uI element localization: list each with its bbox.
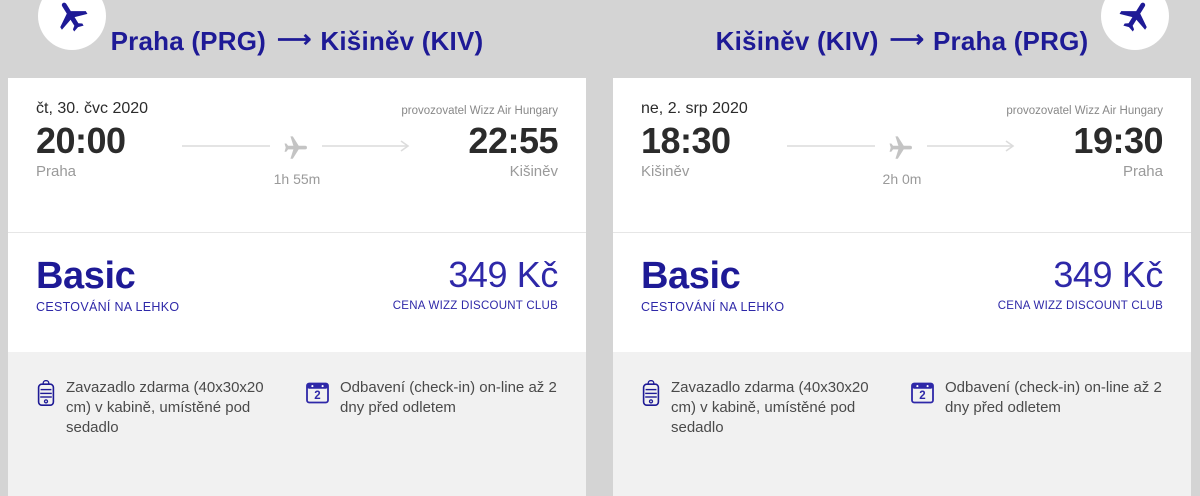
- fare-name: Basic: [641, 257, 784, 295]
- airplane-icon: [38, 0, 106, 50]
- svg-text:2: 2: [919, 390, 925, 402]
- calendar-2-icon: 2: [305, 378, 330, 405]
- route-destination: Kišiněv (KIV): [320, 26, 483, 57]
- departure-endpoint: 18:30 Kišiněv: [641, 122, 775, 180]
- route-title: Praha (PRG) ⟶ Kišiněv (KIV): [111, 22, 484, 57]
- departure-time: 18:30: [641, 122, 775, 160]
- arrival-city: Kišiněv: [424, 163, 558, 180]
- fare-features: Zavazadlo zdarma (40x30x20 cm) v kabině,…: [613, 352, 1191, 496]
- fare-section[interactable]: Basic CESTOVÁNÍ NA LEHKO 349 Kč CENA WIZ…: [613, 233, 1191, 352]
- flight-path-line-icon: [182, 133, 412, 159]
- flight-card-header: Praha (PRG) ⟶ Kišiněv (KIV): [8, 0, 586, 78]
- feature-checkin: 2 Odbavení (check-in) on-line až 2 dny p…: [910, 378, 1167, 496]
- feature-checkin-text: Odbavení (check-in) on-line až 2 dny pře…: [945, 378, 1167, 418]
- price-amount: 349 Kč: [998, 257, 1163, 293]
- flight-details: čt, 30. čvc 2020 provozovatel Wizz Air H…: [8, 78, 586, 233]
- departure-city: Kišiněv: [641, 163, 775, 180]
- flight-card-outbound[interactable]: Praha (PRG) ⟶ Kišiněv (KIV) čt, 30. čvc …: [8, 0, 586, 496]
- flight-path: 2h 0m: [775, 122, 1029, 187]
- arrival-time: 19:30: [1029, 122, 1163, 160]
- flight-itinerary-page: Praha (PRG) ⟶ Kišiněv (KIV) čt, 30. čvc …: [0, 0, 1200, 496]
- feature-baggage: Zavazadlo zdarma (40x30x20 cm) v kabině,…: [36, 378, 287, 496]
- route-origin: Kišiněv (KIV): [716, 26, 879, 57]
- fare-subtitle: CESTOVÁNÍ NA LEHKO: [36, 300, 179, 314]
- fare-info: Basic CESTOVÁNÍ NA LEHKO: [36, 257, 179, 314]
- flight-card-header: Kišiněv (KIV) ⟶ Praha (PRG): [613, 0, 1191, 78]
- flight-duration: 2h 0m: [883, 171, 922, 187]
- flight-path-line-icon: [787, 133, 1017, 159]
- operator-label: provozovatel Wizz Air Hungary: [401, 100, 558, 117]
- feature-checkin-text: Odbavení (check-in) on-line až 2 dny pře…: [340, 378, 562, 418]
- fare-subtitle: CESTOVÁNÍ NA LEHKO: [641, 300, 784, 314]
- flight-path: 1h 55m: [170, 122, 424, 187]
- arrival-endpoint: 19:30 Praha: [1029, 122, 1163, 180]
- flight-date: ne, 2. srp 2020: [641, 100, 748, 118]
- departure-city: Praha: [36, 163, 170, 180]
- route-title: Kišiněv (KIV) ⟶ Praha (PRG): [716, 22, 1089, 57]
- fare-info: Basic CESTOVÁNÍ NA LEHKO: [641, 257, 784, 314]
- fare-name: Basic: [36, 257, 179, 295]
- price-amount: 349 Kč: [393, 257, 558, 293]
- route-origin: Praha (PRG): [111, 26, 266, 57]
- departure-endpoint: 20:00 Praha: [36, 122, 170, 180]
- arrival-endpoint: 22:55 Kišiněv: [424, 122, 558, 180]
- flight-details: ne, 2. srp 2020 provozovatel Wizz Air Hu…: [613, 78, 1191, 233]
- fare-section[interactable]: Basic CESTOVÁNÍ NA LEHKO 349 Kč CENA WIZ…: [8, 233, 586, 352]
- fare-features: Zavazadlo zdarma (40x30x20 cm) v kabině,…: [8, 352, 586, 496]
- flight-card-return[interactable]: Kišiněv (KIV) ⟶ Praha (PRG) ne, 2. srp 2…: [613, 0, 1191, 496]
- arrival-city: Praha: [1029, 163, 1163, 180]
- feature-baggage-text: Zavazadlo zdarma (40x30x20 cm) v kabině,…: [671, 378, 892, 438]
- price-caption: CENA WIZZ DISCOUNT CLUB: [998, 300, 1163, 312]
- svg-text:2: 2: [314, 390, 320, 402]
- feature-checkin: 2 Odbavení (check-in) on-line až 2 dny p…: [305, 378, 562, 496]
- flight-duration: 1h 55m: [274, 171, 321, 187]
- operator-label: provozovatel Wizz Air Hungary: [1006, 100, 1163, 117]
- feature-baggage: Zavazadlo zdarma (40x30x20 cm) v kabině,…: [641, 378, 892, 496]
- departure-time: 20:00: [36, 122, 170, 160]
- feature-baggage-text: Zavazadlo zdarma (40x30x20 cm) v kabině,…: [66, 378, 287, 438]
- backpack-icon: [36, 378, 56, 406]
- arrival-time: 22:55: [424, 122, 558, 160]
- calendar-2-icon: 2: [910, 378, 935, 405]
- flight-date: čt, 30. čvc 2020: [36, 100, 148, 118]
- route-arrow-icon: ⟶: [890, 28, 922, 52]
- route-destination: Praha (PRG): [933, 26, 1088, 57]
- airplane-icon: [1101, 0, 1169, 50]
- price-caption: CENA WIZZ DISCOUNT CLUB: [393, 300, 558, 312]
- price-block: 349 Kč CENA WIZZ DISCOUNT CLUB: [998, 257, 1163, 312]
- backpack-icon: [641, 378, 661, 406]
- price-block: 349 Kč CENA WIZZ DISCOUNT CLUB: [393, 257, 558, 312]
- route-arrow-icon: ⟶: [277, 28, 309, 52]
